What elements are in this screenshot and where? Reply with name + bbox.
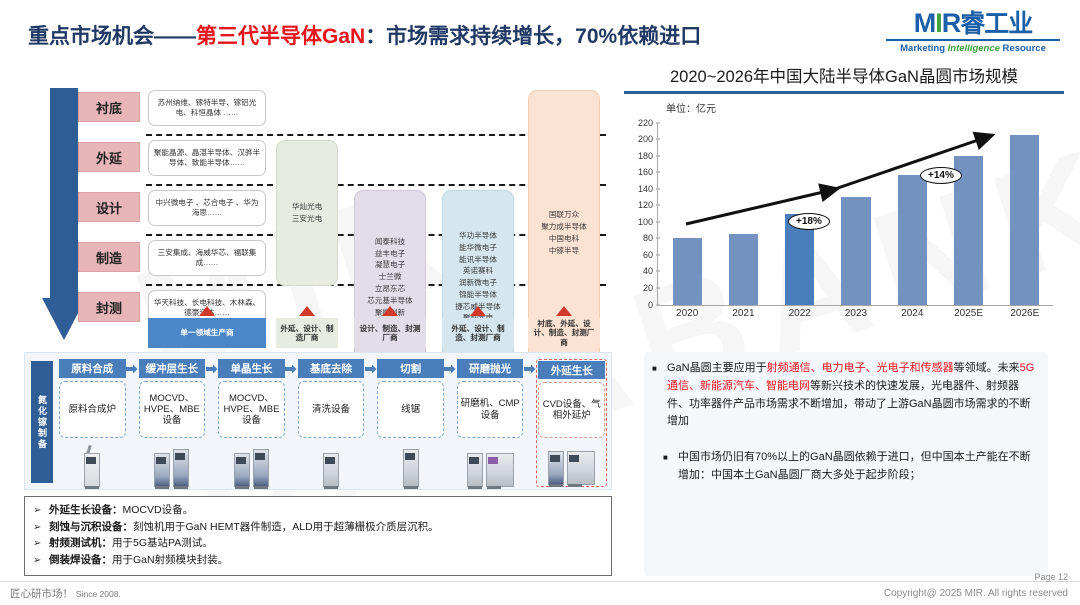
- footer-divider: [0, 581, 1080, 582]
- equipment-photo: [538, 441, 605, 485]
- stage-label: 封测: [96, 298, 122, 317]
- note-label: 倒装焊设备：: [49, 552, 112, 568]
- vendor-tag-label: 外延、设计、制造、封测厂商: [444, 324, 512, 343]
- flow-arrow-icon: [523, 359, 536, 487]
- chart-plot-area: 020406080100120140160180200220 +18% +14%…: [630, 117, 1060, 335]
- flow-step-equipment: CVD设备、气相外延炉: [538, 382, 605, 438]
- machine-icon: [153, 449, 171, 487]
- chart-y-axis: 020406080100120140160180200220: [630, 123, 656, 305]
- stage-label: 外延: [96, 148, 122, 167]
- company-box-text: 中兴微电子 、芯合电子 、华为海思……: [153, 198, 261, 219]
- note-label: 外延生长设备：: [49, 502, 123, 518]
- logo-tagline-3: Resource: [1000, 43, 1046, 54]
- chart-y-tick-label: 40: [643, 266, 653, 276]
- chart-y-tick-label: 60: [643, 250, 653, 260]
- chart-y-tick-label: 200: [638, 134, 653, 144]
- bullet-square-icon: ■: [652, 449, 678, 465]
- up-arrow-icon: [470, 306, 486, 316]
- title-part-2: ：市场需求持续增长，70%依赖进口: [365, 25, 701, 48]
- machine-icon: [547, 447, 565, 485]
- machine-icon: [566, 447, 596, 485]
- flow-step-title: 外延生长: [538, 361, 605, 379]
- vendor-name: 芯元基半导体: [367, 295, 413, 307]
- vendor-name: 中国电科: [549, 233, 579, 245]
- flow-step-title: 研磨抛光: [457, 359, 524, 378]
- flow-arrow-icon: [364, 359, 377, 487]
- title-highlight: 第三代半导体GaN: [196, 25, 365, 48]
- insight-segment: 射频通信、电力电子、光电子和传感器: [767, 362, 954, 374]
- note-item: ➢刻蚀与沉积设备：刻蚀机用于GaN HEMT器件制造，ALD用于超薄栅极介质层沉…: [33, 519, 603, 536]
- equipment-photo: [59, 441, 126, 487]
- flow-step-title: 切割: [377, 359, 444, 378]
- flow-step[interactable]: 外延生长CVD设备、气相外延炉: [536, 359, 607, 487]
- footer-brand-text: 匠心研市场！: [10, 588, 73, 600]
- chart-y-tick-label: 80: [643, 233, 653, 243]
- chart-x-tick-label: 2021: [715, 308, 771, 319]
- chart-x-labels: 202020212022202320242025E2026E: [659, 308, 1053, 319]
- stage-packaging-test[interactable]: 封测: [78, 292, 140, 322]
- flow-step-equipment: 原料合成炉: [59, 381, 126, 439]
- vendor-name: 聚力成半导体: [541, 221, 587, 233]
- bullet-caret-icon: ➢: [33, 503, 49, 519]
- chart-x-tick-label: 2026E: [997, 308, 1053, 319]
- company-box: 中兴微电子 、芯合电子 、华为海思……: [148, 190, 266, 226]
- stage-manufacturing[interactable]: 制造: [78, 242, 140, 272]
- flow-arrow-icon: [285, 359, 298, 487]
- chart-y-tick-label: 140: [638, 184, 653, 194]
- vendor-tag: 外延、设计、制造厂商: [276, 318, 338, 348]
- up-arrow-icon: [199, 306, 215, 316]
- company-box: 三安集成、海威华芯、福联集成……: [148, 240, 266, 276]
- chart-title: 2020~2026年中国大陆半导体GaN晶圆市场规模: [622, 60, 1066, 87]
- chart-x-tick-label: 2022: [772, 308, 828, 319]
- machine-icon: [233, 449, 251, 487]
- chart-bar-slot[interactable]: [828, 123, 884, 305]
- flow-step[interactable]: 基底去除清洗设备: [298, 359, 365, 487]
- chart-bar[interactable]: [1010, 135, 1039, 305]
- flow-step-title: 缓冲层生长: [139, 359, 206, 378]
- vendor-tag: 设计、制造、封测厂商: [354, 318, 426, 348]
- note-item: ➢倒装焊设备：用于GaN射频模块封装。: [33, 552, 603, 569]
- flow-step[interactable]: 缓冲层生长MOCVD、HVPE、MBE设备: [139, 359, 206, 487]
- up-arrow-icon: [382, 306, 398, 316]
- company-box-text: 三安集成、海威华芯、福联集成……: [153, 248, 261, 269]
- flow-step-equipment: 线锯: [377, 381, 444, 439]
- page-number: Page 12: [1034, 572, 1068, 582]
- note-text: 用于GaN射频模块封装。: [112, 552, 228, 568]
- stage-design[interactable]: 设计: [78, 192, 140, 222]
- vendor-name: 士兰微: [379, 271, 402, 283]
- note-text: 用于5G基站PA测试。: [112, 535, 213, 551]
- logo-tagline-2: Intelligence: [948, 43, 1000, 54]
- vendor-name: 国联万众: [549, 209, 579, 221]
- flow-step-title: 基底去除: [298, 359, 365, 378]
- vendor-tag: 外延、设计、制造、封测厂商: [442, 318, 514, 348]
- insight-text: 中国市场仍旧有70%以上的GaN晶圆依赖于进口，但中国本土产能在不断增加：中国本…: [678, 449, 1038, 485]
- vendor-name: 华灿光电: [292, 201, 322, 213]
- stage-substrate[interactable]: 衬底: [78, 92, 140, 122]
- chart-title-underline: [624, 91, 1064, 94]
- flow-step-equipment: MOCVD、HVPE、MBE设备: [139, 381, 206, 439]
- vendor-name: 三安光电: [292, 213, 322, 225]
- chart-y-tick-label: 0: [648, 300, 653, 310]
- copyright-notice: Copyright@ 2025 MIR. All rights reserved: [884, 588, 1068, 599]
- chart-x-tick-label: 2025E: [940, 308, 996, 319]
- footer-brand: 匠心研市场！ Since 2008.: [10, 586, 121, 601]
- chart-bar-slot[interactable]: [997, 123, 1053, 305]
- insight-segment: 等领域。未来: [954, 362, 1020, 374]
- flow-step-title: 原料合成: [59, 359, 126, 378]
- flow-arrow-icon: [205, 359, 218, 487]
- stage-label: 设计: [96, 198, 122, 217]
- logo-tagline-1: Marketing: [900, 43, 948, 54]
- vendor-column-green: 华灿光电三安光电: [276, 140, 338, 286]
- chart-x-tick-label: 2020: [659, 308, 715, 319]
- note-item: ➢射频测试机：用于5G基站PA测试。: [33, 535, 603, 552]
- chart-y-tick-label: 180: [638, 151, 653, 161]
- vendor-name: 能讯半导体: [459, 254, 497, 266]
- flow-step-equipment: 研磨机、CMP设备: [457, 381, 524, 439]
- slide-root: MIR DATABANK 重点市场机会——第三代半导体GaN：市场需求持续增长，…: [0, 0, 1080, 605]
- flow-arrow-icon: [126, 359, 139, 487]
- company-box: 苏州纳维、镓特半导、镓铝光电、科恒晶体 ……: [148, 90, 266, 126]
- vendor-tag: 衬底、外延、设计、制造、封测厂商: [528, 318, 600, 348]
- flow-step[interactable]: 原料合成原料合成炉: [59, 359, 126, 487]
- vendor-name: 能华微电子: [459, 242, 497, 254]
- value-chain-diagram: 衬底 外延 设计 制造 封测 苏州纳维、镓特半导、镓铝光电、科恒晶体 …… 聚能…: [24, 86, 614, 346]
- vendor-name: 华功半导体: [459, 230, 497, 242]
- bullet-caret-icon: ➢: [33, 520, 49, 536]
- vendor-tag-label: 单一领域生产商: [180, 328, 233, 337]
- stage-epitaxy[interactable]: 外延: [78, 142, 140, 172]
- vendor-tag-label: 外延、设计、制造厂商: [278, 324, 336, 343]
- logo-wordmark: MIR睿工业: [884, 10, 1062, 37]
- machine-icon: [322, 449, 340, 487]
- note-text: 刻蚀机用于GaN HEMT器件制造，ALD用于超薄栅极介质层沉积。: [133, 519, 439, 535]
- vendor-name: 益丰电子: [375, 248, 405, 260]
- flow-step[interactable]: 研磨抛光研磨机、CMP设备: [457, 359, 524, 487]
- vendor-name: 立昂东芯: [375, 283, 405, 295]
- flow-side-label: 氮化镓制备: [31, 361, 53, 483]
- chart-bar-slot[interactable]: [940, 123, 996, 305]
- chart-x-axis-line: [657, 305, 1053, 306]
- insight-segment: GaN晶圆主要应用于: [667, 362, 767, 374]
- vendor-tag-label: 衬底、外延、设计、制造、封测厂商: [530, 319, 598, 347]
- insight-item: ■中国市场仍旧有70%以上的GaN晶圆依赖于进口，但中国本土产能在不断增加：中国…: [652, 449, 1038, 485]
- chart-bar[interactable]: [841, 197, 870, 305]
- vendor-tag: 单一领域生产商: [148, 318, 266, 348]
- stage-label: 衬底: [96, 98, 122, 117]
- machine-icon: [466, 449, 484, 487]
- vendor-name: 润新微电子: [459, 277, 497, 289]
- company-box-text: 聚能晶源、晶湛半导体、汉骅半导体、致能半导体……: [153, 148, 261, 169]
- title-part-1: 重点市场机会——: [28, 25, 196, 48]
- insights-panel: ■GaN晶圆主要应用于射频通信、电力电子、光电子和传感器等领域。未来5G通信、新…: [644, 352, 1048, 576]
- chart-unit-label: 单位：亿元: [666, 100, 1066, 115]
- vendor-name: 英诺赛科: [463, 265, 493, 277]
- bullet-square-icon: ■: [652, 360, 667, 376]
- logo-tagline: Marketing Intelligence Resource: [884, 43, 1062, 54]
- bullet-caret-icon: ➢: [33, 553, 49, 569]
- flow-step-equipment: 清洗设备: [298, 381, 365, 439]
- vendor-column-blue: 华功半导体能华微电子能讯半导体英诺赛科润新微电子锦能半导体捷芯威半导体聚灿光电百…: [442, 190, 514, 376]
- chart-bars: [659, 123, 1053, 305]
- chart-y-tick-label: 160: [638, 167, 653, 177]
- stage-label: 制造: [96, 248, 122, 267]
- chart-bar-slot[interactable]: [715, 123, 771, 305]
- flow-step[interactable]: 单晶生长MOCVD、HVPE、MBE设备: [218, 359, 285, 487]
- footer-since: Since 2008.: [76, 589, 121, 599]
- note-item: ➢外延生长设备：MOCVD设备。: [33, 502, 603, 519]
- chart-y-tick-label: 100: [638, 217, 653, 227]
- up-arrow-icon: [556, 306, 572, 316]
- flow-steps-container: 原料合成原料合成炉缓冲层生长MOCVD、HVPE、MBE设备单晶生长MOCVD、…: [59, 359, 607, 487]
- company-box-text: 苏州纳维、镓特半导、镓铝光电、科恒晶体 ……: [153, 98, 261, 119]
- machine-icon: [83, 449, 101, 487]
- equipment-photo: [377, 441, 444, 487]
- machine-icon: [485, 449, 515, 487]
- flow-arrow-icon: [444, 359, 457, 487]
- flow-step[interactable]: 切割线锯: [377, 359, 444, 487]
- vendor-tag-label: 设计、制造、封测厂商: [356, 324, 424, 343]
- chart-bar-slot[interactable]: [659, 123, 715, 305]
- note-label: 刻蚀与沉积设备：: [49, 519, 133, 535]
- chart-annotation-1: +18%: [788, 213, 830, 230]
- chart-x-tick-label: 2024: [884, 308, 940, 319]
- logo-letter-r: R: [942, 8, 961, 38]
- page-title: 重点市场机会——第三代半导体GaN：市场需求持续增长，70%依赖进口: [28, 20, 701, 50]
- vendor-name: 中镓半导: [549, 245, 579, 257]
- insight-segment: 中国市场仍旧有70%以上的GaN晶圆依赖于进口，但中国本土产能在不断增加：中国本…: [678, 451, 1031, 481]
- chart-y-tick-label: 220: [638, 118, 653, 128]
- chart-annotation-2: +14%: [920, 167, 962, 184]
- mir-logo: MIR睿工业 Marketing Intelligence Resource: [884, 10, 1062, 54]
- company-box: 聚能晶源、晶湛半导体、汉骅半导体、致能半导体……: [148, 140, 266, 176]
- flow-step-equipment: MOCVD、HVPE、MBE设备: [218, 381, 285, 439]
- note-text: MOCVD设备。: [123, 502, 194, 518]
- machine-icon: [252, 445, 270, 487]
- up-arrow-icon: [299, 306, 315, 316]
- logo-chinese-name: 睿工业: [960, 10, 1032, 38]
- logo-divider: [886, 39, 1060, 41]
- chart-x-tick-label: 2023: [828, 308, 884, 319]
- chart-bar-slot[interactable]: [884, 123, 940, 305]
- insight-item: ■GaN晶圆主要应用于射频通信、电力电子、光电子和传感器等领域。未来5G通信、新…: [652, 360, 1038, 431]
- flow-step-title: 单晶生长: [218, 359, 285, 378]
- slide-header: 重点市场机会——第三代半导体GaN：市场需求持续增长，70%依赖进口 MIR睿工…: [0, 0, 1080, 62]
- equipment-photo: [298, 441, 365, 487]
- vendor-column-purple: 闻泰科技益丰电子凝慧电子士兰微立昂东芯芯元基半导体聚能创新宁波海特创: [354, 190, 426, 376]
- arrow-shaft: [50, 88, 78, 300]
- equipment-notes-box: ➢外延生长设备：MOCVD设备。➢刻蚀与沉积设备：刻蚀机用于GaN HEMT器件…: [24, 496, 612, 576]
- equipment-photo: [457, 441, 524, 487]
- insight-text: GaN晶圆主要应用于射频通信、电力电子、光电子和传感器等领域。未来5G通信、新能…: [667, 360, 1038, 431]
- bullet-caret-icon: ➢: [33, 536, 49, 552]
- vendor-name: 凝慧电子: [375, 259, 405, 271]
- process-flow-diagram: 氮化镓制备 原料合成原料合成炉缓冲层生长MOCVD、HVPE、MBE设备单晶生长…: [24, 352, 612, 490]
- market-size-chart: 2020~2026年中国大陆半导体GaN晶圆市场规模 单位：亿元 0204060…: [622, 60, 1066, 342]
- vendor-name: 闻泰科技: [375, 236, 405, 248]
- machine-icon: [172, 445, 190, 487]
- machine-icon: [402, 445, 420, 487]
- chart-y-tick-label: 20: [643, 283, 653, 293]
- logo-letter-m: M: [914, 8, 936, 38]
- chart-bar[interactable]: [673, 238, 702, 305]
- chart-bar[interactable]: [729, 234, 758, 304]
- equipment-photo: [139, 441, 206, 487]
- chart-y-tick-label: 120: [638, 200, 653, 210]
- chart-bar[interactable]: [898, 175, 927, 305]
- note-label: 射频测试机：: [49, 535, 112, 551]
- vendor-name: 锦能半导体: [459, 289, 497, 301]
- equipment-photo: [218, 441, 285, 487]
